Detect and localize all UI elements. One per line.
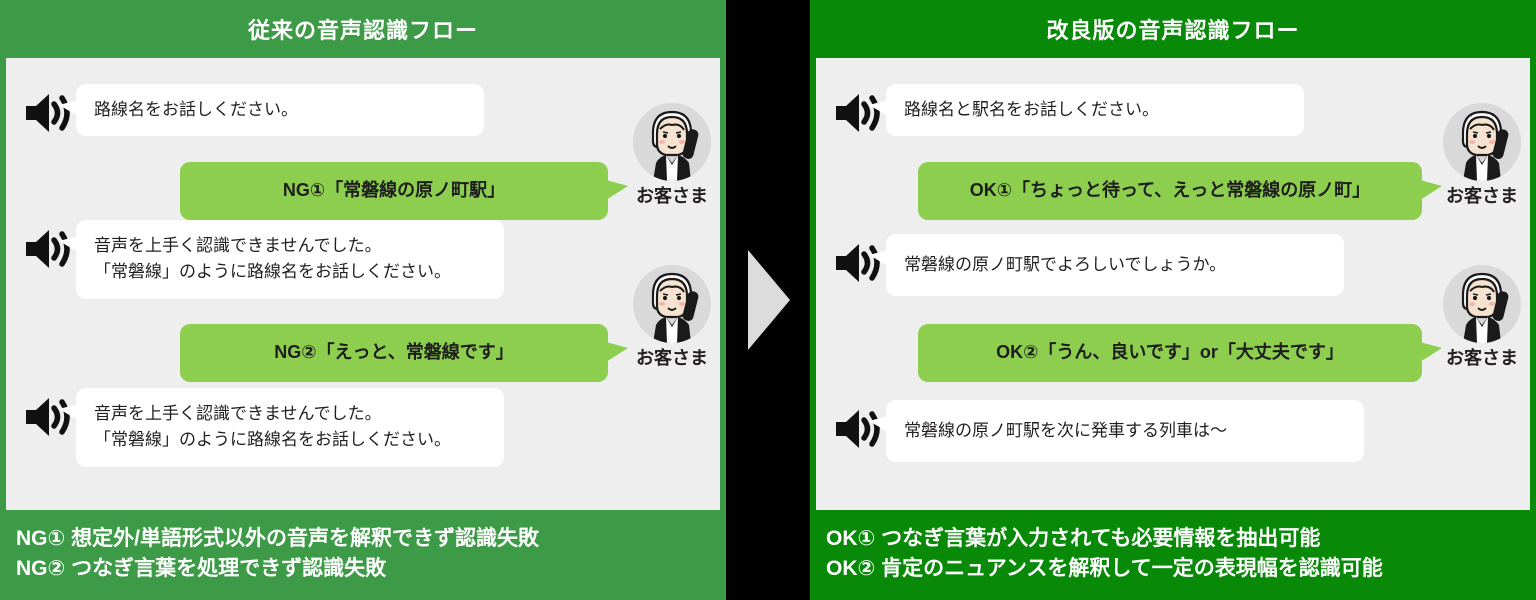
right-panel-footer: OK① つなぎ言葉が入力されても必要情報を抽出可能 OK② 肯定のニュアンスを解… <box>810 510 1536 600</box>
right-conversation-area: 路線名と駅名をお話しください。 OK①「ちょっと待って、えっと常磐線の原ノ町」 <box>816 58 1530 510</box>
customer-message-bubble: NG②「えっと、常磐線です」 <box>180 324 608 382</box>
message-line: NG②「えっと、常磐線です」 <box>274 342 514 362</box>
message-line: 常磐線の原ノ町駅でよろしいでしょうか。 <box>904 255 1226 274</box>
message-row: NG①「常磐線の原ノ町駅」 <box>180 162 608 220</box>
message-row: 路線名をお話しください。 <box>22 84 484 136</box>
right-panel-title: 改良版の音声認識フロー <box>1046 13 1299 45</box>
customer-avatar-block: お客さま <box>624 265 720 370</box>
comparison-board: 従来の音声認識フロー 路線名をお話しください。 NG <box>0 0 1536 600</box>
customer-avatar-label: お客さま <box>624 182 720 208</box>
system-message-bubble: 常磐線の原ノ町駅を次に発車する列車は〜 <box>886 400 1364 462</box>
left-flow-panel: 従来の音声認識フロー 路線名をお話しください。 NG <box>0 0 726 600</box>
customer-avatar-block: お客さま <box>1434 265 1530 370</box>
right-panel-header: 改良版の音声認識フロー <box>810 0 1536 58</box>
system-message-bubble: 常磐線の原ノ町駅でよろしいでしょうか。 <box>886 234 1344 296</box>
footer-line: NG② つなぎ言葉を処理できず認識失敗 <box>16 554 710 584</box>
right-flow-panel: 改良版の音声認識フロー 路線名と駅名をお話しください。 <box>810 0 1536 600</box>
system-message-bubble: 音声を上手く認識できませんでした。 「常磐線」のように路線名をお話しください。 <box>76 388 504 467</box>
message-row: 音声を上手く認識できませんでした。 「常磐線」のように路線名をお話しください。 <box>22 220 504 299</box>
message-line: OK②「うん、良いです」or「大丈夫です」 <box>996 342 1344 362</box>
message-row: 常磐線の原ノ町駅を次に発車する列車は〜 <box>832 400 1364 462</box>
footer-line: OK① つなぎ言葉が入力されても必要情報を抽出可能 <box>826 524 1520 554</box>
customer-avatar-label: お客さま <box>624 344 720 370</box>
customer-avatar-label: お客さま <box>1434 344 1530 370</box>
customer-avatar-block: お客さま <box>1434 103 1530 208</box>
footer-line: OK② 肯定のニュアンスを解釈して一定の表現幅を認識可能 <box>826 554 1520 584</box>
system-message-bubble: 音声を上手く認識できませんでした。 「常磐線」のように路線名をお話しください。 <box>76 220 504 299</box>
message-line: 「常磐線」のように路線名をお話しください。 <box>94 259 486 285</box>
customer-avatar-label: お客さま <box>1434 182 1530 208</box>
customer-avatar-icon <box>1443 103 1521 181</box>
message-row: 常磐線の原ノ町駅でよろしいでしょうか。 <box>832 234 1344 296</box>
customer-message-bubble: OK①「ちょっと待って、えっと常磐線の原ノ町」 <box>918 162 1422 220</box>
customer-avatar-icon <box>633 265 711 343</box>
right-triangle-arrow-icon <box>748 250 790 350</box>
message-row: 路線名と駅名をお話しください。 <box>832 84 1304 136</box>
left-panel-header: 従来の音声認識フロー <box>0 0 726 58</box>
message-line: 音声を上手く認識できませんでした。 <box>94 233 486 259</box>
message-row: 音声を上手く認識できませんでした。 「常磐線」のように路線名をお話しください。 <box>22 388 504 467</box>
message-line: 路線名をお話しください。 <box>94 100 298 119</box>
message-row: NG②「えっと、常磐線です」 <box>180 324 608 382</box>
system-message-bubble: 路線名と駅名をお話しください。 <box>886 84 1304 136</box>
message-line: OK①「ちょっと待って、えっと常磐線の原ノ町」 <box>970 180 1370 200</box>
message-line: 路線名と駅名をお話しください。 <box>904 100 1159 119</box>
system-message-bubble: 路線名をお話しください。 <box>76 84 484 136</box>
footer-line: NG① 想定外/単語形式以外の音声を解釈できず認識失敗 <box>16 524 710 554</box>
left-panel-footer: NG① 想定外/単語形式以外の音声を解釈できず認識失敗 NG② つなぎ言葉を処理… <box>0 510 726 600</box>
customer-avatar-block: お客さま <box>624 103 720 208</box>
customer-avatar-icon <box>633 103 711 181</box>
customer-message-bubble: OK②「うん、良いです」or「大丈夫です」 <box>918 324 1422 382</box>
message-line: 音声を上手く認識できませんでした。 <box>94 401 486 427</box>
customer-avatar-icon <box>1443 265 1521 343</box>
message-line: NG①「常磐線の原ノ町駅」 <box>283 180 505 200</box>
message-row: OK②「うん、良いです」or「大丈夫です」 <box>918 324 1422 382</box>
customer-message-bubble: NG①「常磐線の原ノ町駅」 <box>180 162 608 220</box>
message-line: 「常磐線」のように路線名をお話しください。 <box>94 427 486 453</box>
message-row: OK①「ちょっと待って、えっと常磐線の原ノ町」 <box>918 162 1422 220</box>
flow-transition-gap <box>726 0 810 600</box>
left-conversation-area: 路線名をお話しください。 NG①「常磐線の原ノ町駅」 <box>6 58 720 510</box>
message-line: 常磐線の原ノ町駅を次に発車する列車は〜 <box>904 421 1227 440</box>
left-panel-title: 従来の音声認識フロー <box>248 13 478 45</box>
